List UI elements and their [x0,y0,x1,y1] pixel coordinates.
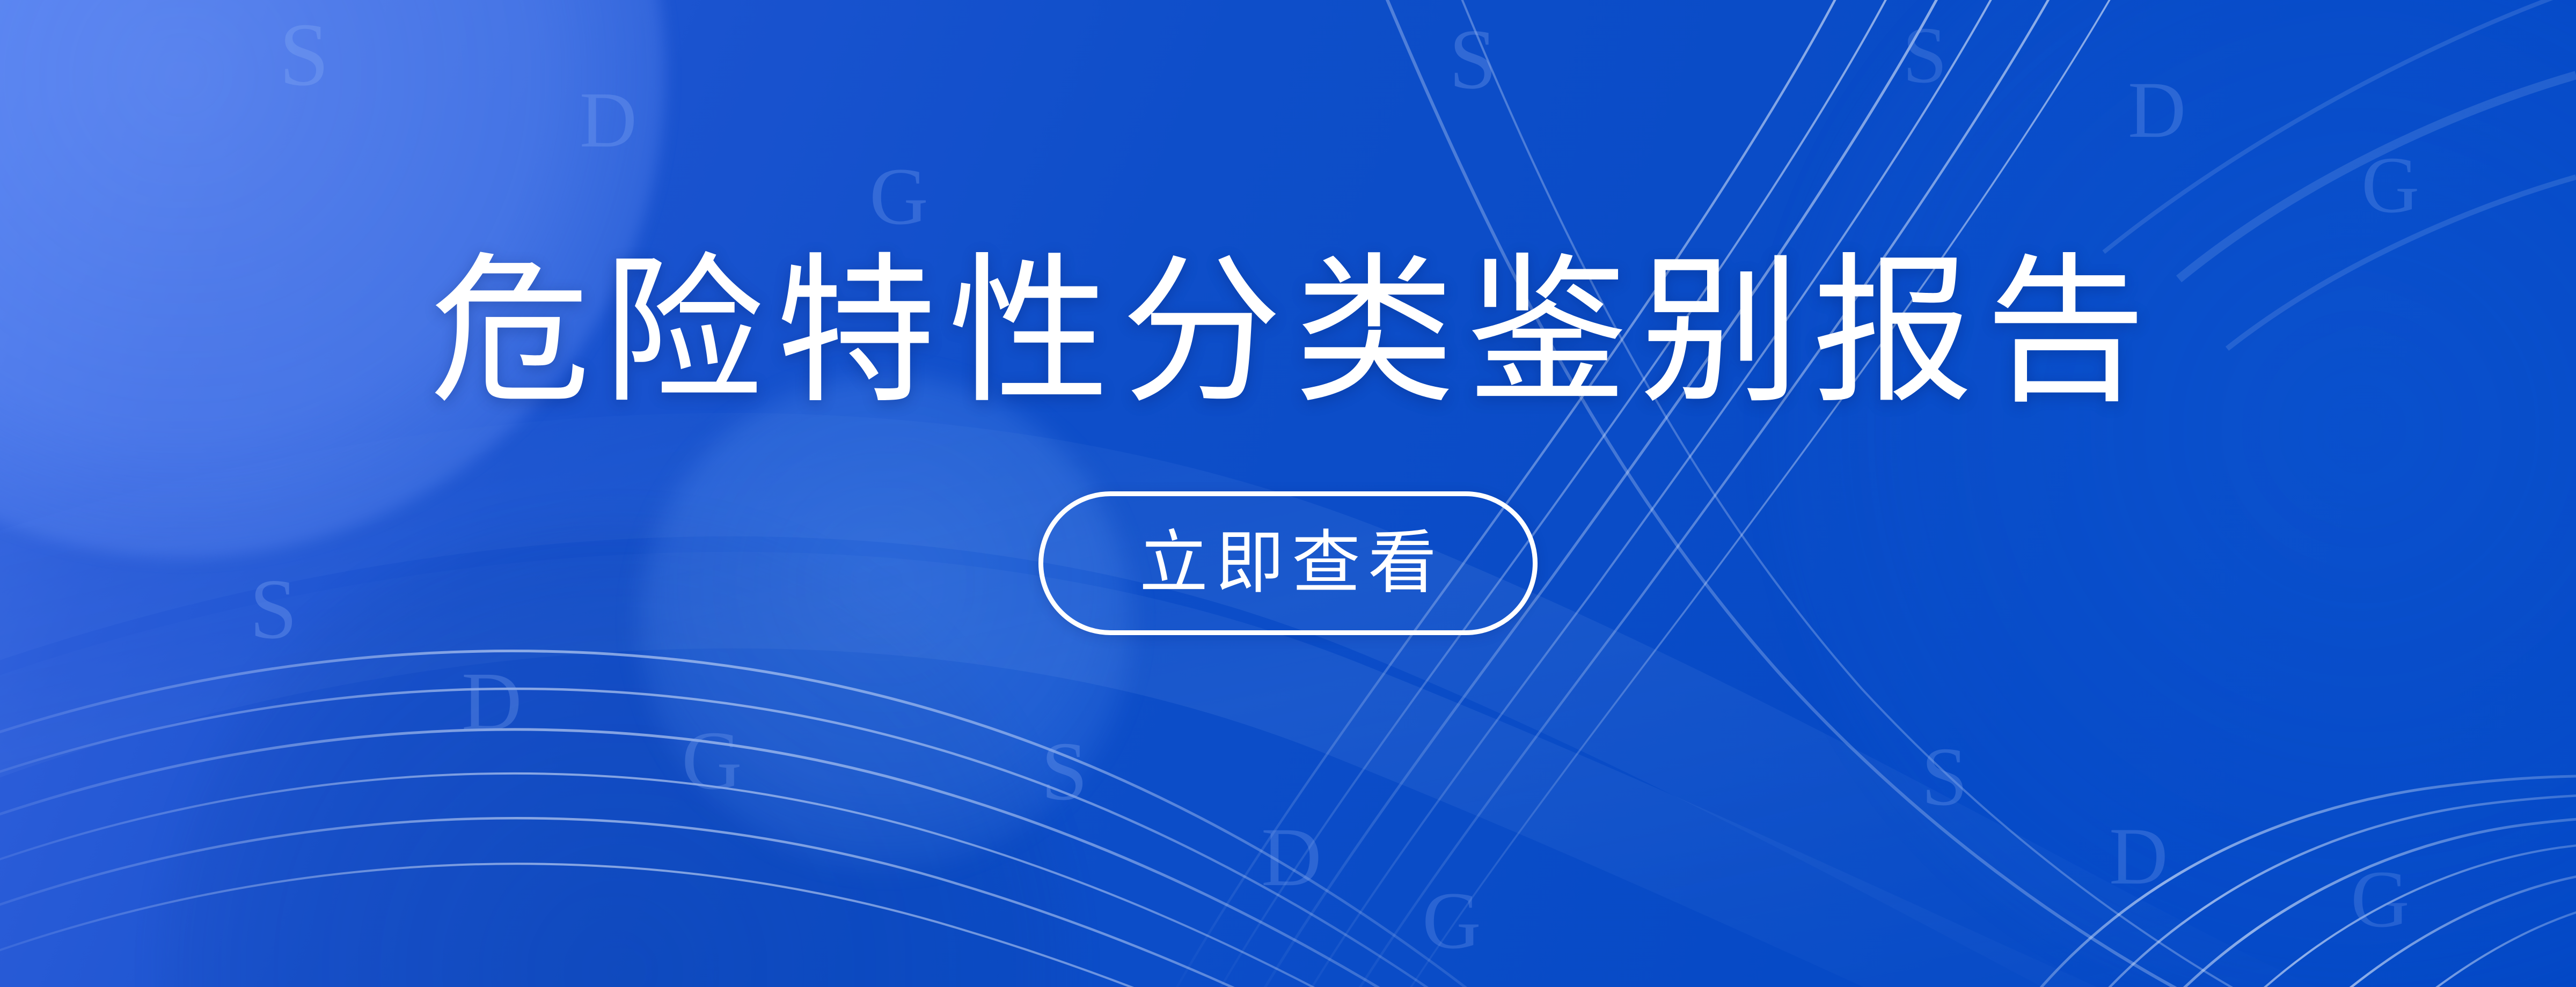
banner-content: 危险特性分类鉴别报告 立即查看 [0,0,2576,987]
view-now-button-label: 立即查看 [1132,529,1444,598]
view-now-button[interactable]: 立即查看 [1038,491,1538,635]
promo-banner: SDGSDGSSDGSDGSDG 危险特性分类鉴别报告 立即查看 [0,0,2576,987]
page-title: 危险特性分类鉴别报告 [418,251,2158,412]
